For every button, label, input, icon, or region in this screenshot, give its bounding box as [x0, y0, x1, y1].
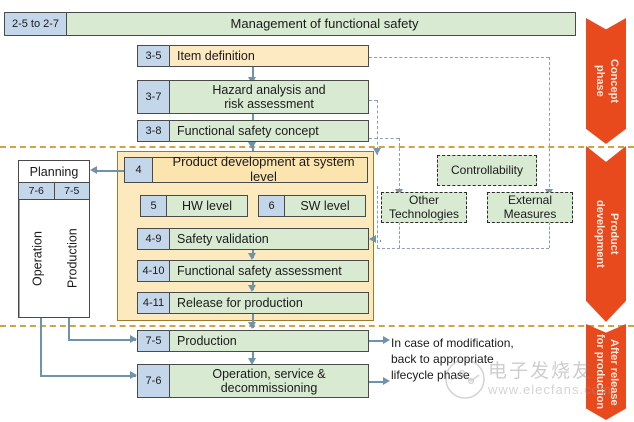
label-product-development: Product development at system level	[153, 158, 367, 182]
clause-3-5: 3-5	[138, 46, 170, 66]
arrow-operation-to-7-6	[130, 371, 137, 379]
iso26262-lifecycle-diagram: 2-5 to 2-7 Management of functional safe…	[0, 0, 634, 422]
box-operation-service-decommissioning[interactable]: 7-6 Operation, service & decommissioning	[137, 364, 369, 398]
clause-3-8: 3-8	[138, 121, 170, 141]
label-functional-safety-concept: Functional safety concept	[170, 121, 368, 141]
line-operation-right	[40, 375, 136, 377]
arrow-4-10-to-4-11	[248, 285, 256, 292]
planning-clause-7-6: 7-6	[19, 183, 55, 199]
dotted-from-safety-concept	[369, 138, 399, 139]
label-safety-validation: Safety validation	[170, 229, 368, 249]
label-sw-level: SW level	[285, 196, 365, 216]
dotted-v-other-technologies	[399, 138, 400, 196]
dotted-v-other-down	[399, 222, 400, 248]
phase-product-development-label: Product development	[592, 200, 620, 268]
column-production: Production	[55, 200, 90, 317]
label-release-for-production: Release for production	[170, 293, 368, 313]
line-production-down	[68, 318, 70, 340]
header-title: Management of functional safety	[67, 13, 575, 35]
label-hazard-analysis: Hazard analysis and risk assessment	[170, 81, 368, 113]
box-production[interactable]: 7-5 Production	[137, 330, 369, 352]
arrow-operation-to-note	[383, 377, 390, 385]
planning-title: Planning	[19, 161, 89, 183]
label-external-measures: External Measures	[504, 194, 557, 222]
label-production: Production	[170, 331, 368, 351]
label-other-technologies: Other Technologies	[389, 194, 459, 222]
box-functional-safety-concept[interactable]: 3-8 Functional safety concept	[137, 120, 369, 142]
box-functional-safety-assessment[interactable]: 4-10 Functional safety assessment	[137, 260, 369, 282]
box-sw-level[interactable]: 6 SW level	[258, 195, 366, 217]
line-panel-to-planning	[96, 170, 124, 172]
arrow-production-to-note	[383, 336, 390, 344]
arrow-into-controllability	[373, 148, 381, 155]
box-product-development-system-level[interactable]: 4 Product development at system level	[124, 157, 368, 183]
clause-4-10: 4-10	[138, 261, 170, 281]
box-hazard-analysis[interactable]: 3-7 Hazard analysis and risk assessment	[137, 80, 369, 114]
planning-clause-row: 7-6 7-5	[19, 183, 89, 200]
label-operation-service-decommissioning: Operation, service & decommissioning	[170, 365, 368, 397]
clause-4: 4	[125, 158, 153, 182]
clause-7-6: 7-6	[138, 365, 170, 397]
clause-7-5: 7-5	[138, 331, 170, 351]
dotted-v-external-measures	[549, 57, 550, 197]
planning-columns: Operation Production	[19, 200, 89, 317]
line-operation-down	[40, 318, 42, 376]
divider-development-production	[0, 325, 634, 327]
label-controllability: Controllability	[451, 164, 523, 178]
dotted-v-controllability	[377, 100, 378, 155]
modification-note: In case of modification, back to appropr…	[391, 336, 561, 384]
box-hw-level[interactable]: 5 HW level	[140, 195, 248, 217]
dotted-h-return-bus	[377, 248, 549, 249]
arrow-production-to-7-5	[130, 335, 137, 343]
management-of-functional-safety-bar: 2-5 to 2-7 Management of functional safe…	[4, 12, 576, 36]
clause-4-9: 4-9	[138, 229, 170, 249]
phase-product-development: Product development	[586, 146, 626, 322]
column-operation: Operation	[19, 200, 55, 317]
dotted-from-item-definition	[369, 57, 549, 58]
box-other-technologies[interactable]: Other Technologies	[381, 192, 467, 223]
arrow-panel-to-planning	[90, 166, 97, 174]
dotted-from-hazard-analysis	[369, 100, 377, 101]
box-controllability[interactable]: Controllability	[437, 155, 537, 186]
box-safety-validation[interactable]: 4-9 Safety validation	[137, 228, 369, 250]
dotted-v-ext-down	[549, 222, 550, 248]
clause-5: 5	[141, 196, 167, 216]
arrow-into-safety-validation	[369, 235, 376, 243]
box-release-for-production[interactable]: 4-11 Release for production	[137, 292, 369, 314]
phase-concept-label: Concept phase	[592, 59, 620, 103]
clause-6: 6	[259, 196, 285, 216]
arrow-3-8-to-panel	[248, 142, 256, 149]
clause-4-11: 4-11	[138, 293, 170, 313]
phase-concept: Concept phase	[586, 18, 626, 144]
line-production-right	[68, 339, 136, 341]
header-clause: 2-5 to 2-7	[5, 13, 67, 35]
dotted-v-ctrl-down	[377, 186, 378, 248]
phase-after-release: After release for production	[586, 324, 626, 420]
arrow-4-11-to-production	[248, 322, 256, 329]
phase-after-release-label: After release for production	[592, 334, 620, 409]
box-item-definition[interactable]: 3-5 Item definition	[137, 45, 369, 67]
label-functional-safety-assessment: Functional safety assessment	[170, 261, 368, 281]
clause-3-7: 3-7	[138, 81, 170, 113]
planning-operation-production-block[interactable]: Planning 7-6 7-5 Operation Production	[18, 160, 90, 318]
arrow-4-9-to-4-10	[248, 253, 256, 260]
planning-clause-7-5: 7-5	[55, 183, 90, 199]
label-hw-level: HW level	[167, 196, 247, 216]
label-item-definition: Item definition	[170, 46, 368, 66]
return-line-to-safety-validation	[380, 240, 381, 242]
box-external-measures[interactable]: External Measures	[487, 192, 573, 223]
divider-concept-development	[0, 146, 634, 148]
